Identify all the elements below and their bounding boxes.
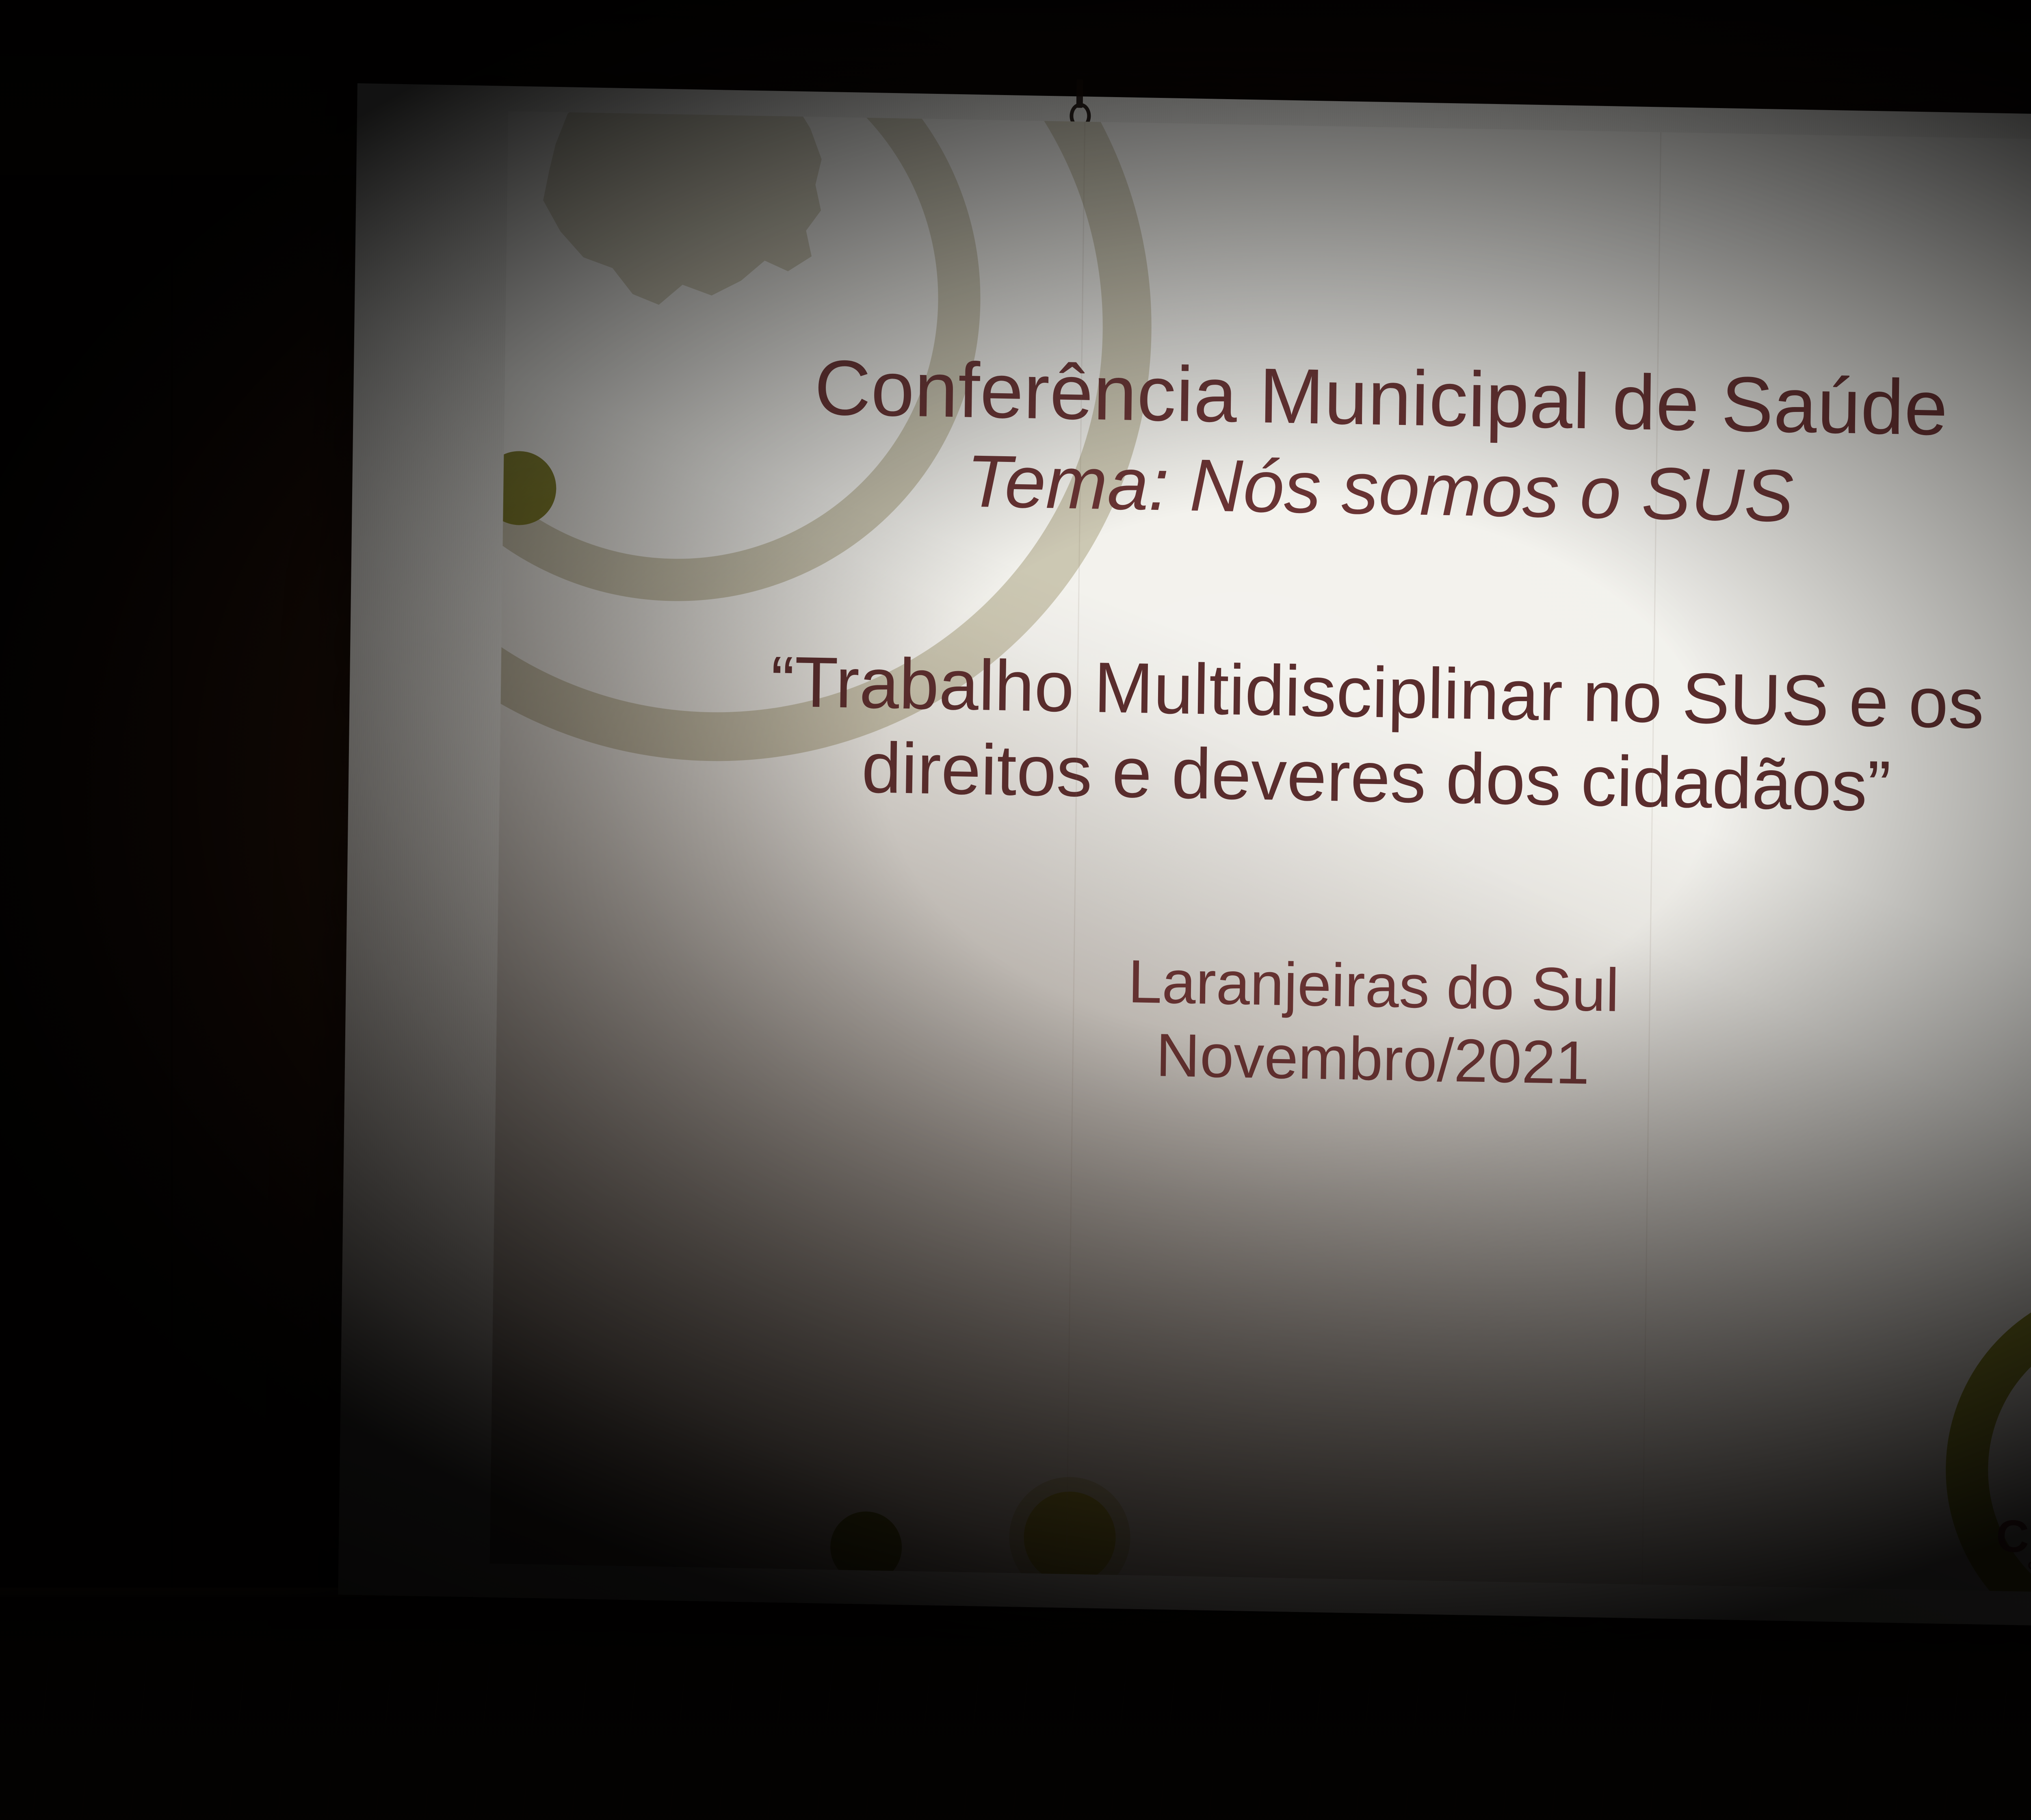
auditorium-scene: Conferência Municipal de Saúde Tema: Nós… [0,0,2031,1820]
room-vignette [0,0,2031,1820]
